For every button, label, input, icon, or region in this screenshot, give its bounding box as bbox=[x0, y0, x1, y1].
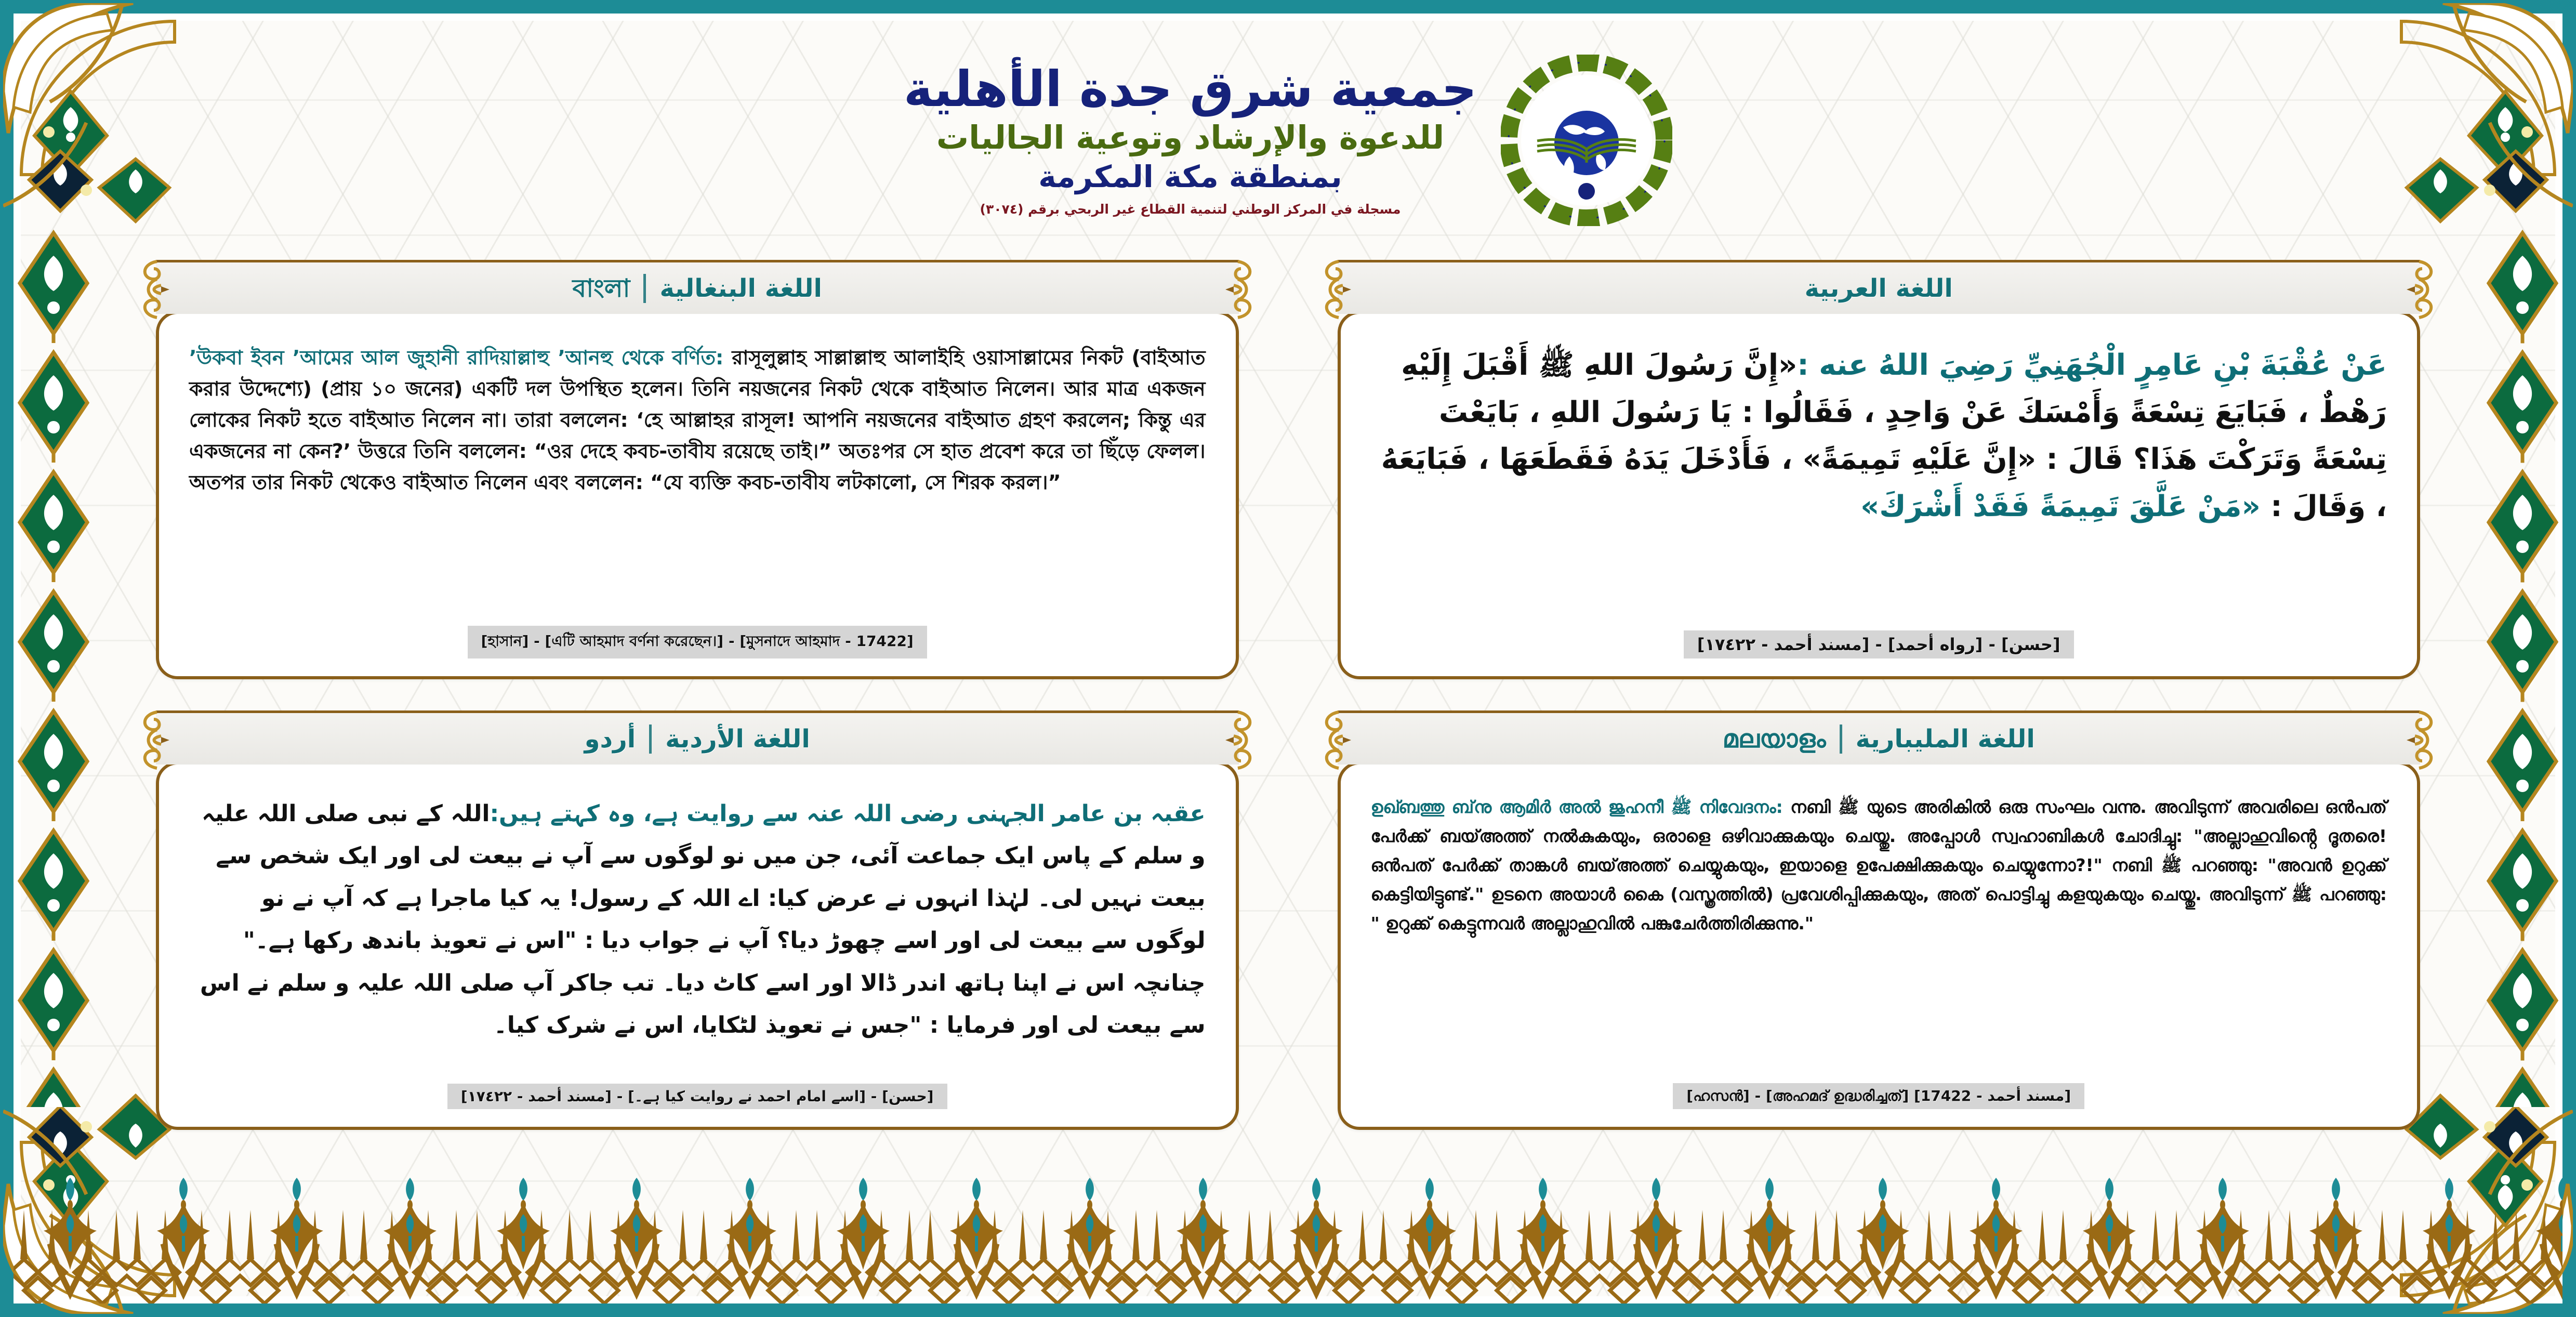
bottom-ornamental-band bbox=[14, 1174, 2562, 1303]
side-ornament-right bbox=[2478, 223, 2567, 1107]
organization-title-block: جمعية شرق جدة الأهلية للدعوة والإرشاد وت… bbox=[904, 64, 1477, 217]
header-flourish-right-icon bbox=[2407, 707, 2445, 773]
card-body-malayalam: ഉഖ്ബത്തു ബ്‌നു ആമിർ അൽ ജുഹനീ ﷺ നിവേദനം: … bbox=[1338, 761, 2421, 1130]
hadith-text-arabic: عَنْ عُقْبَةَ بْنِ عَامِرٍ الْجُهَنِيِّ … bbox=[1371, 342, 2387, 531]
language-card-grid: বাংলা اللغة البنغالية ’উকবা ইবন ’আমের আল… bbox=[156, 260, 2420, 1130]
language-card-arabic: اللغة العربية عَنْ عُقْبَةَ بْنِ عَامِرٍ… bbox=[1338, 260, 2421, 679]
card-label-native-urdu: أردو bbox=[585, 727, 636, 752]
hadith-body-malayalam: നബി ﷺ യുടെ അരികിൽ ഒരു സംഘം വന്നു. അവിടുന… bbox=[1371, 797, 2387, 933]
hadith-text-bengali: ’উকবা ইবন ’আমের আল জুহানী রাদিয়াল্লাহু … bbox=[189, 342, 1206, 498]
card-body-arabic: عَنْ عُقْبَةَ بْنِ عَامِرٍ الْجُهَنِيِّ … bbox=[1338, 311, 2421, 679]
organization-registration: مسجلة في المركز الوطني لتنمية القطاع غير… bbox=[904, 202, 1477, 217]
card-label-arabic-bengali: اللغة البنغالية bbox=[659, 276, 822, 301]
organization-logo bbox=[1501, 55, 1672, 226]
poster-header: جمعية شرق جدة الأهلية للدعوة والإرشاد وت… bbox=[0, 31, 2576, 249]
header-divider bbox=[1840, 725, 1842, 754]
card-label-native-malayalam: മലയാളം bbox=[1723, 727, 1826, 752]
header-flourish-left-icon bbox=[1313, 707, 1351, 773]
header-flourish-right-icon bbox=[1225, 707, 1264, 773]
header-flourish-right-icon bbox=[2407, 256, 2445, 323]
narrator-intro-urdu: عقبہ بن عامر الجہنی رضی اللہ عنہ سے روای… bbox=[490, 800, 1205, 827]
header-divider bbox=[649, 725, 652, 754]
card-label-arabic-arabic: اللغة العربية bbox=[1805, 276, 1953, 301]
card-header-urdu: أردو اللغة الأردية bbox=[156, 710, 1239, 765]
header-flourish-left-icon bbox=[131, 707, 169, 773]
card-label-native-bengali: বাংলা bbox=[573, 276, 630, 301]
citation-urdu: [حسن] - [اسے امام احمد نے روایت کیا ہے۔]… bbox=[447, 1084, 947, 1109]
card-body-urdu: عقبہ بن عامر الجہنی رضی اللہ عنہ سے روای… bbox=[156, 761, 1239, 1130]
hadith-text-urdu: عقبہ بن عامر الجہنی رضی اللہ عنہ سے روای… bbox=[189, 793, 1206, 1046]
header-flourish-right-icon bbox=[1225, 256, 1264, 323]
card-body-bengali: ’উকবা ইবন ’আমের আল জুহানী রাদিয়াল্লাহু … bbox=[156, 311, 1239, 679]
corner-ornament-top-left bbox=[3, 3, 232, 232]
narrator-intro-arabic: عَنْ عُقْبَةَ بْنِ عَامِرٍ الْجُهَنِيِّ … bbox=[1797, 348, 2387, 382]
narrator-intro-bengali: ’উকবা ইবন ’আমের আল জুহানী রাদিয়াল্লাহু … bbox=[189, 346, 723, 369]
card-header-bengali: বাংলা اللغة البنغالية bbox=[156, 260, 1239, 314]
language-card-malayalam: മലയാളം اللغة المليبارية ഉഖ്ബത്തു ബ്‌നു ആ… bbox=[1338, 710, 2421, 1130]
header-divider bbox=[643, 274, 646, 303]
hadith-text-malayalam: ഉഖ്ബത്തു ബ്‌നു ആമിർ അൽ ജുഹനീ ﷺ നിവേദനം: … bbox=[1371, 793, 2387, 938]
hadith-closing-quote-arabic: «مَنْ عَلَّقَ تَمِيمَةً فَقَدْ أَشْرَكَ» bbox=[1860, 490, 2261, 523]
hadith-poster: جمعية شرق جدة الأهلية للدعوة والإرشاد وت… bbox=[0, 0, 2576, 1317]
header-flourish-left-icon bbox=[131, 256, 169, 323]
card-label-arabic-urdu: اللغة الأردية bbox=[665, 727, 810, 752]
header-flourish-left-icon bbox=[1313, 256, 1351, 323]
hadith-body-urdu: اللہ کے نبی صلی اللہ علیہ و سلم کے پاس ا… bbox=[200, 800, 1206, 1038]
language-card-bengali: বাংলা اللغة البنغالية ’উকবা ইবন ’আমের আল… bbox=[156, 260, 1239, 679]
narrator-intro-malayalam: ഉഖ്ബത്തു ബ്‌നു ആമിർ അൽ ജുഹനീ ﷺ നിവേദനം: bbox=[1371, 797, 1783, 817]
citation-arabic: [حسن] - [رواه أحمد] - [مسند أحمد - ١٧٤٢٢… bbox=[1684, 630, 2074, 658]
card-header-malayalam: മലയാളം اللغة المليبارية bbox=[1338, 710, 2421, 765]
organization-subtitle-one: للدعوة والإرشاد وتوعية الجاليات bbox=[904, 117, 1477, 158]
organization-subtitle-two: بمنطقة مكة المكرمة bbox=[904, 158, 1477, 196]
language-card-urdu: أردو اللغة الأردية عقبہ بن عامر الجہنی ر… bbox=[156, 710, 1239, 1130]
card-label-arabic-malayalam: اللغة المليبارية bbox=[1856, 727, 2035, 752]
organization-name: جمعية شرق جدة الأهلية bbox=[904, 64, 1477, 116]
globe-book-crescents-icon bbox=[1501, 55, 1672, 226]
side-ornament-left bbox=[9, 223, 98, 1107]
card-header-arabic: اللغة العربية bbox=[1338, 260, 2421, 314]
citation-malayalam: [ഹസൻ] - [അഹമദ് ഉദ്ധരിച്ചത്] [مسند أحمد -… bbox=[1673, 1083, 2084, 1109]
corner-ornament-top-right bbox=[2344, 3, 2573, 232]
citation-bengali: [হাসান] - [এটি আহমাদ বর্ণনা করেছেন।] - [… bbox=[468, 626, 927, 658]
